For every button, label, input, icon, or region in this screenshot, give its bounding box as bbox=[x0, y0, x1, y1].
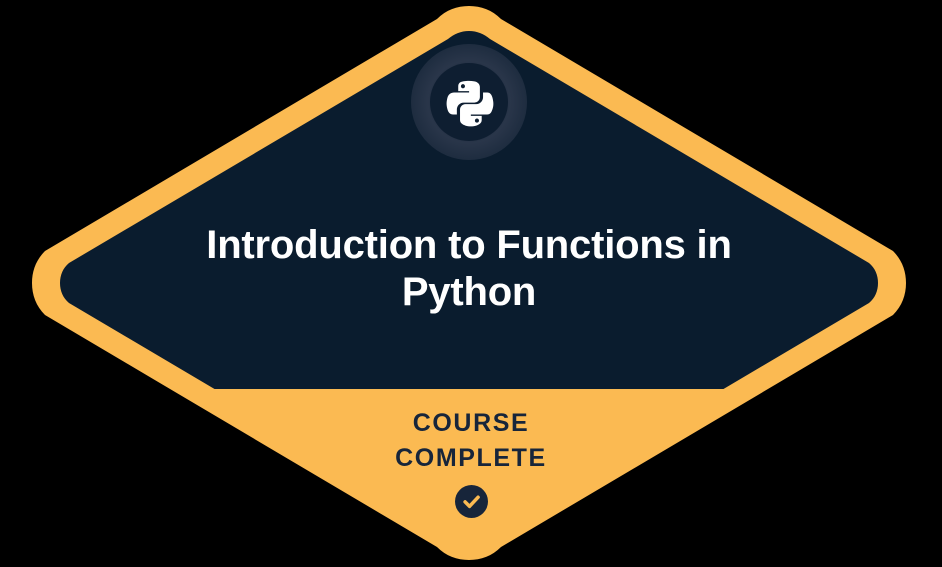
completion-status: COURSE COMPLETE bbox=[271, 406, 671, 518]
emblem bbox=[411, 44, 527, 160]
badge-title: Introduction to Functions in Python bbox=[171, 222, 767, 316]
status-line-course: COURSE bbox=[271, 406, 671, 441]
check-circle-icon bbox=[455, 485, 488, 518]
check-badge-wrap bbox=[271, 485, 671, 518]
status-line-complete: COMPLETE bbox=[271, 441, 671, 476]
python-logo-icon bbox=[444, 77, 494, 127]
course-completion-badge: Introduction to Functions in Python COUR… bbox=[0, 0, 942, 567]
